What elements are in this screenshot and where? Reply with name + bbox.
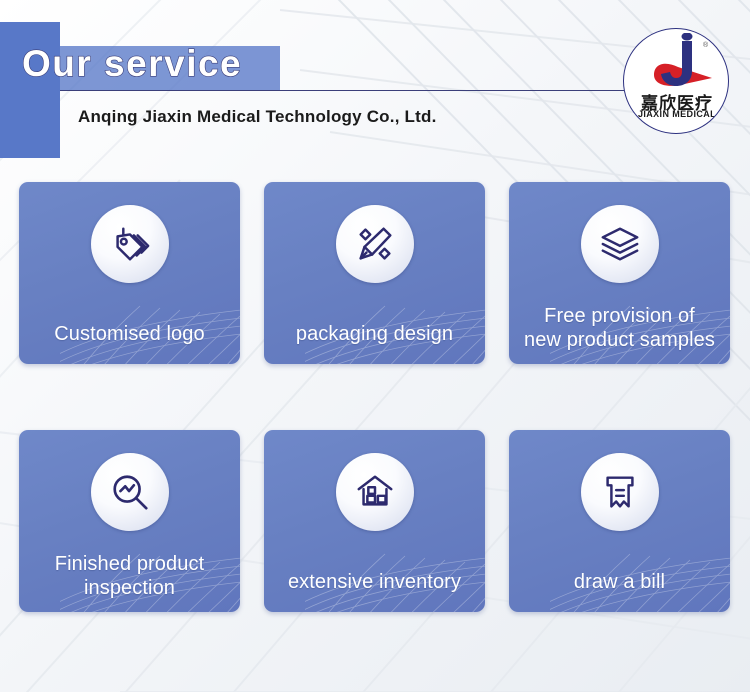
- price-tags-icon: [91, 205, 169, 283]
- page-title: Our service: [22, 40, 242, 88]
- company-subtitle: Anqing Jiaxin Medical Technology Co., Lt…: [78, 107, 437, 127]
- card-label: extensive inventory: [274, 570, 475, 594]
- logo-name-en: JIAXIN MEDICAL: [624, 109, 729, 119]
- card-label: Free provision of new product samples: [519, 304, 720, 352]
- card-label: draw a bill: [519, 570, 720, 594]
- service-card-finished-inspection[interactable]: Finished product inspection: [19, 430, 240, 612]
- card-label: Finished product inspection: [29, 552, 230, 600]
- service-card-extensive-inventory[interactable]: extensive inventory: [264, 430, 485, 612]
- card-label: packaging design: [274, 322, 475, 346]
- service-card-packaging-design[interactable]: packaging design: [264, 182, 485, 364]
- receipt-bill-icon: [581, 453, 659, 531]
- warehouse-boxes-icon: [336, 453, 414, 531]
- registered-trademark-mark: ®: [703, 42, 708, 49]
- service-card-customised-logo[interactable]: Customised logo: [19, 182, 240, 364]
- service-card-grid: Customised logo packaging design: [19, 182, 732, 612]
- magnifier-chart-icon: [91, 453, 169, 531]
- card-label: Customised logo: [29, 322, 230, 346]
- logo-monogram-icon: [624, 33, 729, 95]
- layers-stack-icon: [581, 205, 659, 283]
- page-header: Our service Anqing Jiaxin Medical Techno…: [0, 0, 750, 170]
- company-logo: ® 嘉欣医疗 JIAXIN MEDICAL: [623, 28, 729, 134]
- pencil-design-icon: [336, 205, 414, 283]
- service-card-free-samples[interactable]: Free provision of new product samples: [509, 182, 730, 364]
- header-divider-line: [60, 90, 680, 91]
- service-card-draw-a-bill[interactable]: draw a bill: [509, 430, 730, 612]
